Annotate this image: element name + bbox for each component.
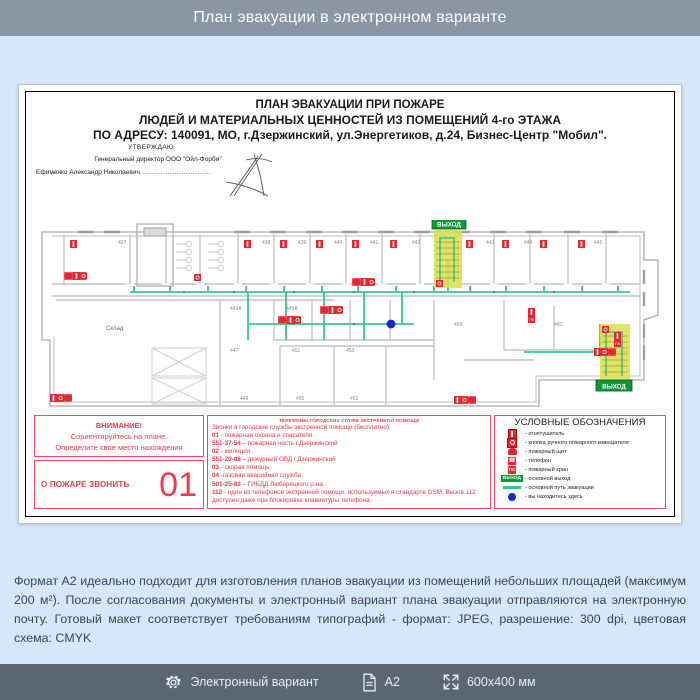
footer-size: 600x400 мм	[442, 673, 536, 691]
emergency-phones-tail: доступен даже при блокировке клавиатуры …	[212, 497, 486, 505]
svg-text:445A: 445A	[286, 306, 298, 312]
you-are-here-marker	[387, 320, 396, 329]
svg-text:ВЫХОД: ВЫХОД	[437, 221, 461, 228]
phone-item: 551-37-54 – пожарная часть г.Дзержинский	[212, 440, 486, 448]
svg-text:443A: 443A	[230, 306, 242, 312]
app-header-bar: План эвакуации в электронном варианте	[0, 0, 700, 36]
page-body: ПЛАН ЭВАКУАЦИИ ПРИ ПОЖАРЕ ЛЮДЕЙ И МАТЕРИ…	[0, 36, 700, 700]
exit-sign-text: ВЫХОД	[501, 475, 523, 482]
floor-plan-drawing: ПК	[34, 220, 668, 420]
footer-variant-label: Электронный вариант	[190, 675, 318, 689]
phone-number: 501-25-83	[212, 481, 241, 488]
telephone-icon: ☎	[499, 457, 525, 465]
attention-notice: ВНИМАНИЕ! Сориентируйтесь на плане. Опре…	[34, 415, 204, 457]
phone-number: 04	[212, 472, 219, 479]
fire-call-block: О ПОЖАРЕ ЗВОНИТЬ 01	[34, 460, 204, 509]
approval-name: Ефименко Александр Николаевич	[36, 169, 140, 176]
svg-text:447: 447	[230, 348, 239, 354]
legend-label: - основной путь эвакуации	[525, 485, 594, 491]
footer-bar: Электронный вариант A2 600x400 мм	[0, 664, 700, 700]
plan-title-line-3: ПО АДРЕСУ: 140091, МО, г.Дзержинский, ул…	[26, 128, 674, 143]
svg-text:453: 453	[346, 348, 355, 354]
fire-shield-icon	[499, 448, 525, 455]
gear-icon	[164, 673, 183, 692]
legend-block: УСЛОВНЫЕ ОБОЗНАЧЕНИЯ - огнетушитель - кн…	[494, 415, 666, 509]
exit-sign-left: ВЫХОД	[432, 220, 466, 229]
phone-number: 551-37-54	[212, 440, 241, 447]
plan-info-row: ВНИМАНИЕ! Сориентируйтесь на плане. Опре…	[34, 415, 666, 509]
legend-label: - вы находитесь здесь	[525, 494, 583, 500]
legend-item-route: - основной путь эвакуации	[499, 483, 661, 492]
svg-text:442: 442	[412, 240, 421, 246]
phone-number: 551-20-88	[212, 456, 241, 463]
svg-text:ВЫХОД: ВЫХОД	[602, 383, 626, 390]
attention-title: ВНИМАНИЕ!	[35, 420, 203, 431]
footer-format-label: A2	[385, 675, 400, 689]
phone-item: 112 - один из телефонов экстренной помощ…	[212, 489, 486, 497]
legend-label: - огнетушитель	[525, 431, 564, 437]
manual-fire-call-point-icon	[499, 438, 525, 448]
attention-block: ВНИМАНИЕ! Сориентируйтесь на плане. Опре…	[34, 415, 204, 509]
legend-label: - основной выход	[525, 476, 570, 482]
approval-heading: УТВЕРЖДАЮ	[0, 144, 306, 151]
phone-desc: - милиция	[219, 448, 250, 455]
phone-desc: - скорая помощь	[219, 464, 269, 471]
svg-text:443: 443	[486, 240, 495, 246]
legend-item-call-point: - кнопка ручного пожарного извещателя	[499, 438, 661, 447]
svg-text:454: 454	[454, 322, 463, 328]
svg-text:450: 450	[296, 396, 305, 402]
plan-title-line-2: ЛЮДЕЙ И МАТЕРИАЛЬНЫХ ЦЕННОСТЕЙ ИЗ ПОМЕЩЕ…	[26, 113, 674, 128]
fire-call-number: 01	[159, 468, 197, 502]
attention-line-3: Определите свое место нахождения	[35, 442, 203, 453]
phone-number: 112	[212, 489, 222, 496]
document-icon	[361, 673, 378, 692]
svg-text:441: 441	[370, 240, 379, 246]
legend-item-fire-shield: - пожарный щит	[499, 447, 661, 456]
phone-desc: – дежурный ОВД г.Дзержинский	[241, 456, 336, 463]
legend-label: - телефон	[525, 458, 551, 464]
approval-dots: ...............................	[140, 169, 211, 176]
footer-format: A2	[361, 673, 400, 692]
approval-block: УТВЕРЖДАЮ Генеральный директор ООО "Ойл-…	[36, 144, 306, 176]
evacuation-plan-sheet: ПЛАН ЭВАКУАЦИИ ПРИ ПОЖАРЕ ЛЮДЕЙ И МАТЕРИ…	[18, 84, 682, 524]
legend-title: УСЛОВНЫЕ ОБОЗНАЧЕНИЯ	[499, 417, 661, 428]
exit-sign-right: ВЫХОД	[596, 380, 632, 391]
svg-text:460: 460	[554, 322, 563, 328]
svg-text:448: 448	[240, 396, 249, 402]
legend-item-main-exit: ВЫХОД - основной выход	[499, 474, 661, 483]
phone-desc: -газовая аварийная служба	[219, 472, 301, 479]
svg-text:438: 438	[262, 240, 271, 246]
legend-label: - пожарный щит	[525, 449, 567, 455]
phone-number: 03	[212, 464, 219, 471]
legend-item-telephone: ☎ - телефон	[499, 456, 661, 465]
phone-desc: - пожарная охрана и спасатели	[219, 432, 312, 439]
evacuation-route-icon	[499, 486, 525, 489]
fire-call-label: О ПОЖАРЕ ЗВОНИТЬ	[41, 480, 129, 489]
emergency-phones-intro: Звонки в городские службы экстренной пом…	[212, 424, 486, 431]
fire-hydrant-icon: ПК	[499, 466, 525, 474]
legend-item-hydrant: ПК - пожарный кран	[499, 465, 661, 474]
footer-size-label: 600x400 мм	[467, 675, 536, 689]
legend-label: - пожарный кран	[525, 467, 568, 473]
attention-line-2: Сориентируйтесь на плане.	[35, 431, 203, 442]
plan-title-line-1: ПЛАН ЭВАКУАЦИИ ПРИ ПОЖАРЕ	[26, 98, 674, 113]
phone-desc: – пожарная часть г.Дзержинский	[241, 440, 338, 447]
legend-label: - кнопка ручного пожарного извещателя	[525, 440, 629, 446]
legend-item-you-are-here: - вы находитесь здесь	[499, 492, 661, 501]
plan-title-block: ПЛАН ЭВАКУАЦИИ ПРИ ПОЖАРЕ ЛЮДЕЙ И МАТЕРИ…	[26, 98, 674, 143]
phone-item: 501-25-83 – ГИБДД Люберецкого р-на	[212, 481, 486, 489]
svg-text:439: 439	[298, 240, 307, 246]
page-title: План эвакуации в электронном варианте	[193, 9, 506, 27]
svg-text:444: 444	[524, 240, 533, 246]
phone-item: 01 - пожарная охрана и спасатели	[212, 432, 486, 440]
expand-arrows-icon	[442, 673, 460, 691]
svg-text:452: 452	[350, 396, 359, 402]
exit-stair-left	[434, 230, 462, 288]
svg-text:451: 451	[292, 348, 301, 354]
footer-variant: Электронный вариант	[164, 673, 318, 692]
phone-number: 02	[212, 448, 219, 455]
phone-item: 551-20-88 – дежурный ОВД г.Дзержинский	[212, 456, 486, 464]
phone-desc: - один из телефонов экстренной помощи, и…	[222, 489, 476, 496]
exit-sign-icon: ВЫХОД	[499, 475, 525, 482]
svg-text:437: 437	[118, 240, 127, 246]
hydrant-abbrev: ПК	[508, 466, 516, 474]
description-paragraph: Формат А2 идеально подходит для изготовл…	[14, 572, 686, 648]
phone-desc: – ГИБДД Люберецкого р-на	[241, 481, 323, 488]
phone-number: 01	[212, 432, 219, 439]
signature-icon	[224, 152, 284, 198]
svg-text:445: 445	[594, 240, 603, 246]
room-label-storage: Склад	[106, 326, 124, 332]
emergency-phones-title: ТЕЛЕФОНЫ ГОРОДСКИХ СЛУЖБ ЭКСТРЕННОЙ ПОМО…	[212, 418, 486, 423]
you-are-here-icon	[499, 493, 525, 501]
emergency-phones-block: ТЕЛЕФОНЫ ГОРОДСКИХ СЛУЖБ ЭКСТРЕННОЙ ПОМО…	[207, 415, 491, 509]
phone-item: 04 -газовая аварийная служба	[212, 472, 486, 480]
svg-text:440: 440	[334, 240, 343, 246]
plan-sheet-border: ПЛАН ЭВАКУАЦИИ ПРИ ПОЖАРЕ ЛЮДЕЙ И МАТЕРИ…	[25, 91, 675, 517]
